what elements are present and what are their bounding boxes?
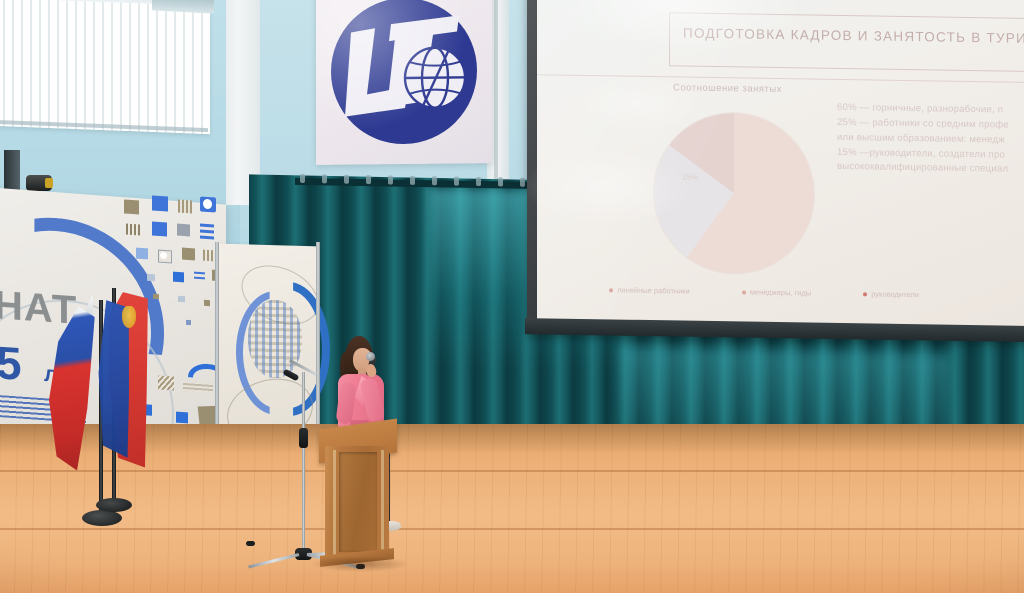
floor-seam — [0, 528, 1024, 530]
backdrop-square — [204, 300, 210, 306]
mic-stand-pole — [302, 372, 305, 554]
ito-logo-banner — [316, 0, 492, 165]
podium-floor-shadow — [310, 556, 410, 572]
backdrop-square — [186, 320, 191, 325]
backdrop-brand-text: НАТ — [0, 283, 77, 334]
legend-color-dot — [742, 290, 746, 294]
backdrop-square — [176, 412, 188, 424]
flag-stand-base — [82, 510, 122, 526]
backdrop-square — [178, 296, 185, 302]
spotlight-lens — [45, 178, 53, 188]
legend-color-dot — [863, 292, 867, 296]
backdrop-square — [124, 199, 139, 214]
backdrop-circle — [160, 252, 167, 259]
backdrop-square — [126, 224, 140, 236]
legend-label: линейные работники — [617, 285, 690, 295]
slide-body-text: 60% — горничные, разнорабочие, п25% — ра… — [837, 101, 1024, 179]
backdrop-square — [136, 248, 148, 260]
window-blinds — [0, 0, 210, 134]
backdrop-square — [177, 224, 190, 237]
curtain-hook — [476, 177, 481, 186]
curtain-hook — [498, 177, 503, 186]
ito-logo-icon — [331, 0, 477, 145]
rollup-grid-motif — [248, 299, 302, 379]
curtain-hook — [454, 177, 459, 186]
backdrop-square — [153, 294, 159, 299]
microphone-head — [366, 352, 375, 361]
backdrop-square — [182, 248, 195, 261]
curtain-hook — [410, 176, 415, 185]
chart-legend-item: руководители — [863, 289, 919, 299]
backdrop-square — [173, 272, 184, 283]
podium-trim-left — [333, 450, 336, 556]
podium-front-inset — [339, 452, 377, 552]
projection-screen-surface: ПОДГОТОВКА КАДРОВ И ЗАНЯТОСТЬ В ТУРИЗ Со… — [537, 0, 1024, 328]
mic-stand-clamp — [299, 428, 308, 448]
floor-seam — [0, 470, 1024, 472]
curtain-hook — [520, 178, 525, 187]
backdrop-anniversary-number: 5 — [0, 335, 22, 391]
spotlight-mount — [4, 150, 20, 194]
backdrop-square — [178, 200, 192, 214]
ito-logo-circle — [331, 0, 477, 145]
pie-slice-label: 25% — [682, 172, 698, 181]
chart-legend: линейные работникименеджеры, гидыруковод… — [609, 285, 1024, 301]
chart-legend-item: линейные работники — [609, 285, 690, 295]
legend-color-dot — [609, 288, 613, 292]
podium-trim-right — [381, 450, 384, 556]
legend-label: руководители — [871, 289, 919, 299]
curtain-hook — [300, 174, 305, 183]
slide-divider — [537, 74, 1024, 83]
backdrop-square — [147, 274, 155, 282]
backdrop-square — [152, 195, 168, 211]
backdrop-square — [158, 375, 174, 390]
floor-shadow — [0, 424, 1024, 454]
flag-stand-base — [96, 498, 132, 512]
curtain-hook — [432, 176, 437, 185]
slide-body-line: высококвалифицированные специал — [837, 160, 1024, 178]
chart-legend-item: менеджеры, гиды — [742, 287, 811, 297]
curtain-hook — [366, 175, 371, 184]
backdrop-square — [203, 250, 215, 262]
conference-photo-scene: ПОДГОТОВКА КАДРОВ И ЗАНЯТОСТЬ В ТУРИЗ Со… — [0, 0, 1024, 593]
pie-chart-slices — [654, 112, 814, 275]
pie-chart: 25% — [654, 112, 814, 275]
curtain-hook — [388, 175, 393, 184]
mic-stand-foot — [246, 541, 255, 546]
curtain-hook — [344, 175, 349, 184]
backdrop-stripes — [183, 381, 213, 393]
slide-subtitle: Соотношение занятых — [673, 82, 782, 95]
projection-screen-frame: ПОДГОТОВКА КАДРОВ И ЗАНЯТОСТЬ В ТУРИЗ Со… — [527, 0, 1024, 342]
backdrop-circle — [203, 199, 212, 210]
legend-label: менеджеры, гиды — [750, 288, 811, 298]
flag-emblem-icon — [122, 306, 136, 328]
curtain-hook — [322, 174, 327, 183]
backdrop-square — [152, 221, 167, 236]
